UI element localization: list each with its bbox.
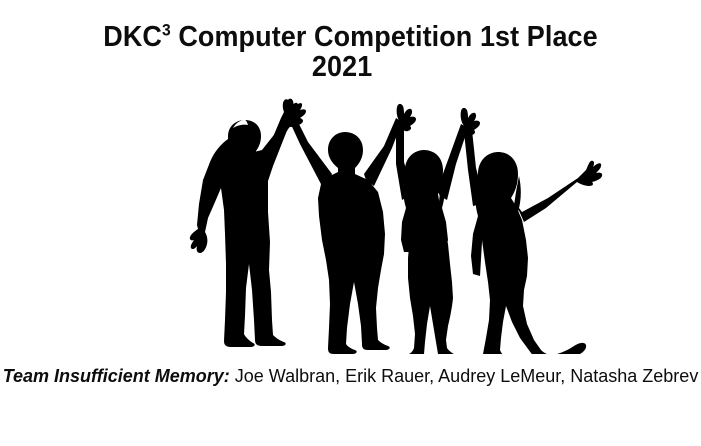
figure-4-right-extended-arm — [516, 161, 602, 222]
celebrating-people-silhouette-artwork — [0, 92, 701, 354]
award-poster: DKC3 Computer Competition 1st Place 2021 — [0, 0, 701, 446]
figure-1-silhouette — [190, 99, 306, 347]
title-line-1-rest: Computer Competition 1st Place — [171, 21, 598, 53]
figure-3-right-raised-arm — [437, 124, 468, 200]
title-superscript-three: 3 — [162, 20, 171, 39]
title-dkc-text: DKC — [103, 21, 162, 53]
title-line-2-year: 2021 — [25, 52, 677, 82]
title-line-1: DKC3 Computer Competition 1st Place — [25, 22, 677, 52]
team-caption: Team Insufficient Memory: Joe Walbran, E… — [0, 366, 701, 388]
team-name-label: Team Insufficient Memory: — [3, 366, 230, 386]
team-members-list: Joe Walbran, Erik Rauer, Audrey LeMeur, … — [230, 366, 699, 386]
page-title: DKC3 Computer Competition 1st Place 2021 — [0, 22, 701, 82]
figure-4-silhouette — [478, 152, 587, 354]
